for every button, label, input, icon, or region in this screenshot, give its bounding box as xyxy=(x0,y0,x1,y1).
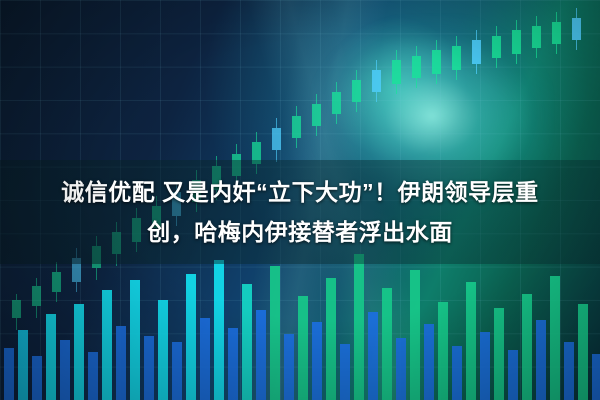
volume-bar xyxy=(480,332,490,400)
volume-bar xyxy=(60,340,70,400)
volume-bar xyxy=(522,294,532,400)
volume-bar xyxy=(186,274,196,400)
headline-line-2: 创，哈梅内伊接替者浮出水面 xyxy=(147,212,453,252)
volume-bar xyxy=(410,270,420,400)
volume-bar xyxy=(200,318,210,400)
volume-bar xyxy=(32,356,42,400)
headline-text: 诚信优配 又是内奸“立下大功”！伊朗领导层重 创，哈梅内伊接替者浮出水面 xyxy=(0,160,600,264)
volume-bar xyxy=(312,322,322,400)
volume-bar xyxy=(396,338,406,400)
volume-bar xyxy=(18,330,28,400)
volume-bar xyxy=(130,280,140,400)
volume-bar xyxy=(158,300,168,400)
volume-bar xyxy=(452,346,462,400)
banner-image: 诚信优配 又是内奸“立下大功”！伊朗领导层重 创，哈梅内伊接替者浮出水面 xyxy=(0,0,600,400)
volume-bar xyxy=(284,334,294,400)
volume-bar xyxy=(508,350,518,400)
volume-bar xyxy=(116,326,126,400)
volume-bar xyxy=(550,276,560,400)
headline-line-1: 诚信优配 又是内奸“立下大功”！伊朗领导层重 xyxy=(61,172,538,212)
volume-bar xyxy=(564,342,574,400)
volume-bar xyxy=(46,314,56,400)
volume-bar xyxy=(102,290,112,400)
volume-bar xyxy=(74,304,84,400)
volume-bar xyxy=(592,354,600,400)
volume-bar xyxy=(326,278,336,400)
volume-bar xyxy=(4,348,14,400)
volume-bar xyxy=(536,320,546,400)
volume-bar xyxy=(256,310,266,400)
volume-bar xyxy=(144,336,154,400)
volume-bar xyxy=(298,296,308,400)
volume-bar xyxy=(382,288,392,400)
volume-bar xyxy=(340,344,350,400)
volume-bar xyxy=(242,284,252,400)
volume-bar xyxy=(172,342,182,400)
volume-bar xyxy=(214,260,224,400)
volume-bar xyxy=(424,324,434,400)
volume-bar xyxy=(438,302,448,400)
volume-bar xyxy=(466,282,476,400)
volume-bar xyxy=(270,266,280,400)
volume-bar xyxy=(368,312,378,400)
volume-bar xyxy=(494,308,504,400)
volume-bar xyxy=(354,254,364,400)
volume-bar xyxy=(578,304,588,400)
volume-bar xyxy=(88,352,98,400)
volume-bar xyxy=(228,328,238,400)
